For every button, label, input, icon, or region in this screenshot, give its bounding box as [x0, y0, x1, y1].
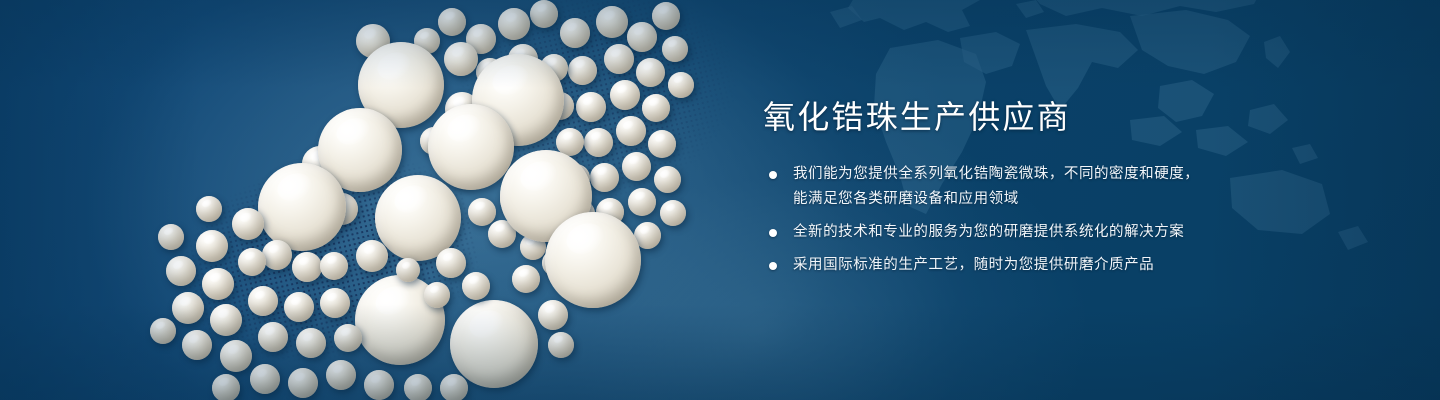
feature-list: 我们能为您提供全系列氧化锆陶瓷微珠，不同的密度和硬度， 能满足您各类研磨设备和应…: [763, 162, 1383, 278]
hero-banner: 氧化锆珠生产供应商 我们能为您提供全系列氧化锆陶瓷微珠，不同的密度和硬度， 能满…: [0, 0, 1440, 400]
list-item: 全新的技术和专业的服务为您的研磨提供系统化的解决方案: [763, 220, 1383, 245]
list-item: 我们能为您提供全系列氧化锆陶瓷微珠，不同的密度和硬度， 能满足您各类研磨设备和应…: [763, 162, 1383, 212]
bullet-dot-icon: [769, 229, 777, 237]
list-item-label: 采用国际标准的生产工艺，随时为您提供研磨介质产品: [793, 253, 1383, 278]
bullet-dot-icon: [769, 262, 777, 270]
page-title: 氧化锆珠生产供应商: [763, 98, 1383, 136]
list-item-label: 我们能为您提供全系列氧化锆陶瓷微珠，不同的密度和硬度，: [793, 162, 1383, 187]
list-item: 采用国际标准的生产工艺，随时为您提供研磨介质产品: [763, 253, 1383, 278]
bullet-dot-icon: [769, 171, 777, 179]
list-item-label-cont: 能满足您各类研磨设备和应用领域: [793, 187, 1383, 212]
banner-content: 氧化锆珠生产供应商 我们能为您提供全系列氧化锆陶瓷微珠，不同的密度和硬度， 能满…: [763, 98, 1383, 278]
list-item-label: 全新的技术和专业的服务为您的研磨提供系统化的解决方案: [793, 220, 1383, 245]
